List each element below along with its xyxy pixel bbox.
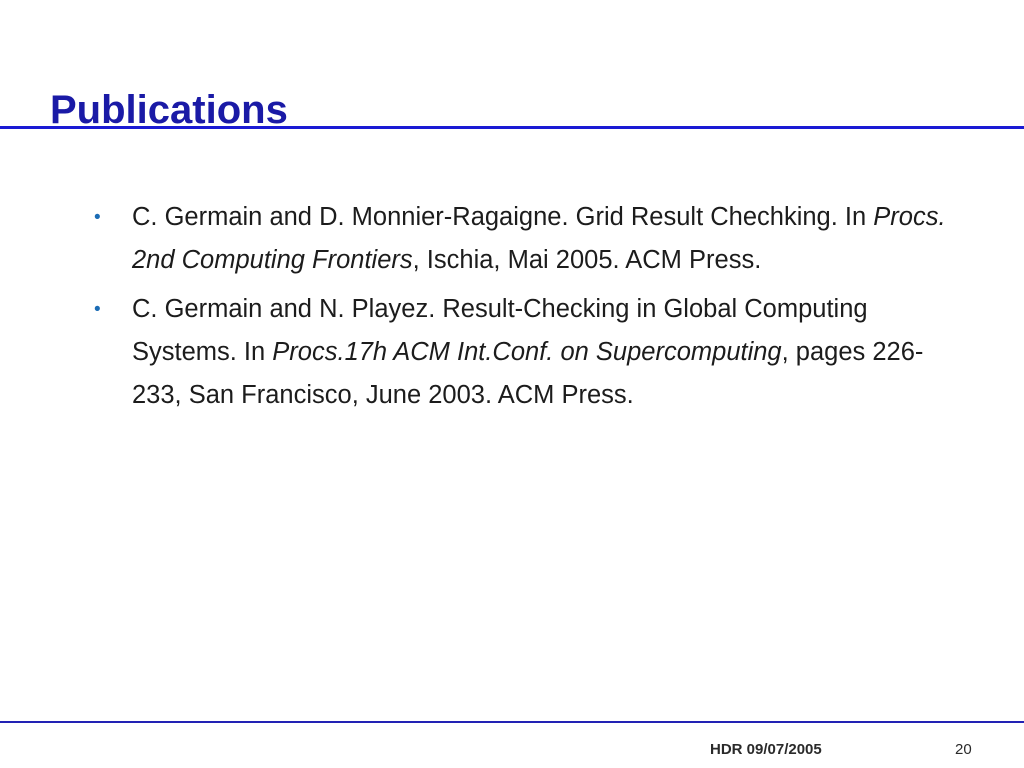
- citation-segment-italic: Procs.17h ACM Int.Conf. on Supercomputin…: [272, 338, 781, 366]
- bullet-dot-icon: •: [94, 196, 114, 239]
- list-item-text: C. Germain and N. Playez. Result-Checkin…: [132, 288, 968, 417]
- list-item-text: C. Germain and D. Monnier-Ragaigne. Grid…: [132, 196, 968, 282]
- bullet-list: • C. Germain and D. Monnier-Ragaigne. Gr…: [88, 196, 968, 423]
- slide-number: 20: [955, 740, 972, 759]
- slide-canvas: Publications • C. Germain and D. Monnier…: [0, 0, 1024, 768]
- list-item: • C. Germain and D. Monnier-Ragaigne. Gr…: [88, 196, 968, 282]
- footer-date-label: HDR 09/07/2005: [710, 740, 822, 759]
- footer-divider: [0, 721, 1024, 723]
- title-divider: [0, 126, 1024, 129]
- list-item: • C. Germain and N. Playez. Result-Check…: [88, 288, 968, 417]
- citation-segment-normal: C. Germain and D. Monnier-Ragaigne. Grid…: [132, 203, 873, 231]
- citation-segment-normal: , Ischia, Mai 2005. ACM Press.: [413, 246, 762, 274]
- bullet-dot-icon: •: [94, 288, 114, 331]
